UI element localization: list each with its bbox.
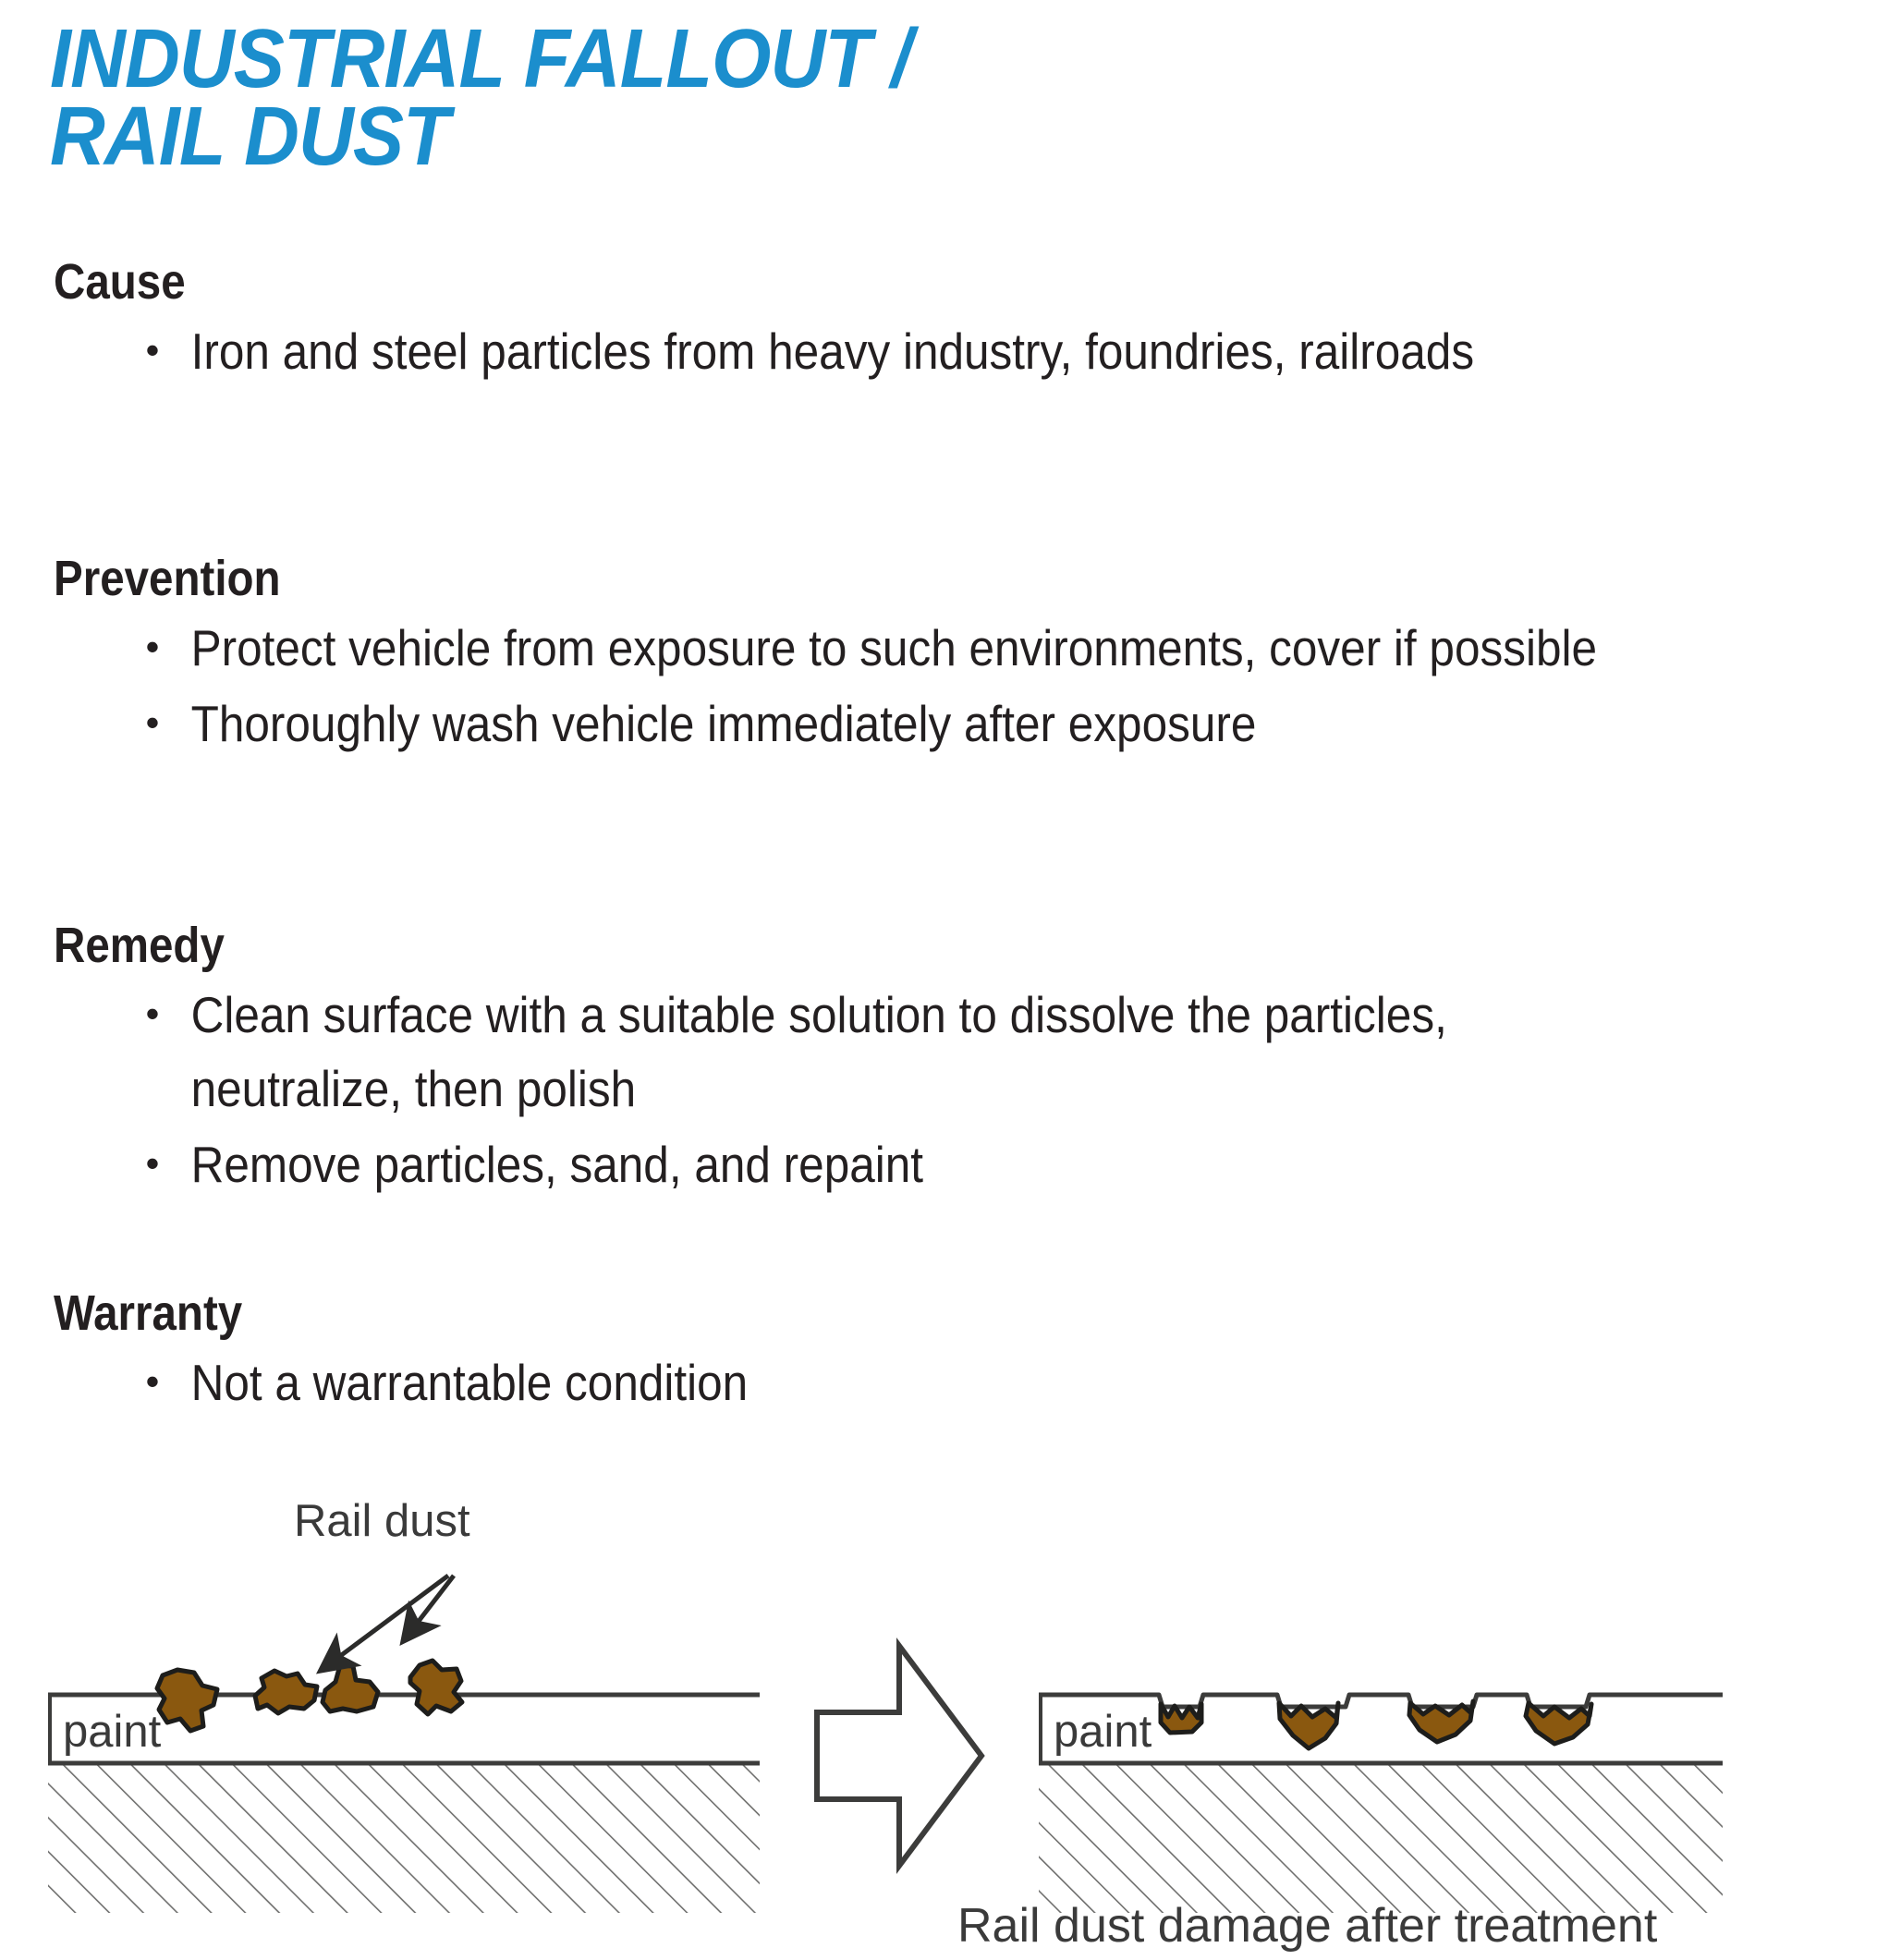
rust-particle (255, 1671, 317, 1713)
list-item: • Protect vehicle from exposure to such … (54, 611, 1782, 685)
bullet-text: Not a warrantable condition (179, 1345, 1622, 1419)
bullet-text: Iron and steel particles from heavy indu… (179, 314, 1622, 388)
section-heading-remedy: Remedy (54, 919, 1575, 972)
list-item: • Remove particles, sand, and repaint (54, 1127, 1782, 1201)
bullet-list-remedy: • Clean surface with a suitable solution… (54, 978, 1782, 1201)
bullet-dot-icon: • (54, 611, 179, 683)
diagram-left-panel: Rail dust paint (48, 1496, 760, 1913)
page-title-line-1: INDUSTRIAL FALLOUT / (50, 20, 1580, 98)
callout-arrow-short (404, 1576, 454, 1640)
process-arrow-icon (817, 1646, 981, 1866)
list-item: • Clean surface with a suitable solution… (54, 978, 1782, 1126)
section-remedy: Remedy • Clean surface with a suitable s… (54, 919, 1782, 1203)
bullet-text: Remove particles, sand, and repaint (179, 1127, 1622, 1201)
substrate-hatch-right (1039, 1765, 1723, 1913)
rust-particle (157, 1670, 217, 1731)
bullet-list-warranty: • Not a warrantable condition (54, 1345, 1782, 1419)
bullet-text: Protect vehicle from exposure to such en… (179, 611, 1622, 685)
page-title: INDUSTRIAL FALLOUT / RAIL DUST (50, 20, 1713, 176)
bullet-text: Clean surface with a suitable solution t… (179, 978, 1622, 1126)
rail-dust-callout-label: Rail dust (294, 1496, 470, 1546)
section-heading-cause: Cause (54, 255, 1575, 309)
list-item: • Iron and steel particles from heavy in… (54, 314, 1782, 388)
list-item: • Thoroughly wash vehicle immediately af… (54, 687, 1782, 761)
section-cause: Cause • Iron and steel particles from he… (54, 255, 1782, 390)
paint-label-right: paint (1054, 1707, 1152, 1757)
bullet-dot-icon: • (54, 978, 179, 1050)
rust-particle (323, 1665, 378, 1711)
rust-pit-fill (1526, 1703, 1591, 1744)
paint-label-left: paint (63, 1707, 162, 1757)
bullet-dot-icon: • (54, 1127, 179, 1199)
diagram-right-panel: paint Rail dust damage after treatment (957, 1695, 1723, 1953)
callout-arrow-long (322, 1576, 448, 1670)
substrate-hatch-left (48, 1765, 760, 1913)
diagram-caption: Rail dust damage after treatment (957, 1899, 1658, 1953)
rail-dust-diagram: Rail dust paint paint Ra (0, 1465, 1901, 1960)
bullet-dot-icon: • (54, 687, 179, 759)
bullet-dot-icon: • (54, 314, 179, 386)
bullet-dot-icon: • (54, 1345, 179, 1418)
paint-surface-line-right (1039, 1695, 1723, 1707)
bullet-list-cause: • Iron and steel particles from heavy in… (54, 314, 1782, 388)
bullet-text: Thoroughly wash vehicle immediately afte… (179, 687, 1622, 761)
section-warranty: Warranty • Not a warrantable condition (54, 1286, 1782, 1421)
section-heading-warranty: Warranty (54, 1286, 1575, 1340)
bullet-list-prevention: • Protect vehicle from exposure to such … (54, 611, 1782, 761)
section-heading-prevention: Prevention (54, 552, 1575, 605)
list-item: • Not a warrantable condition (54, 1345, 1782, 1419)
section-prevention: Prevention • Protect vehicle from exposu… (54, 552, 1782, 762)
page-title-line-2: RAIL DUST (50, 98, 1580, 176)
rust-particle (410, 1661, 462, 1714)
rust-pit-fill (1279, 1703, 1338, 1748)
